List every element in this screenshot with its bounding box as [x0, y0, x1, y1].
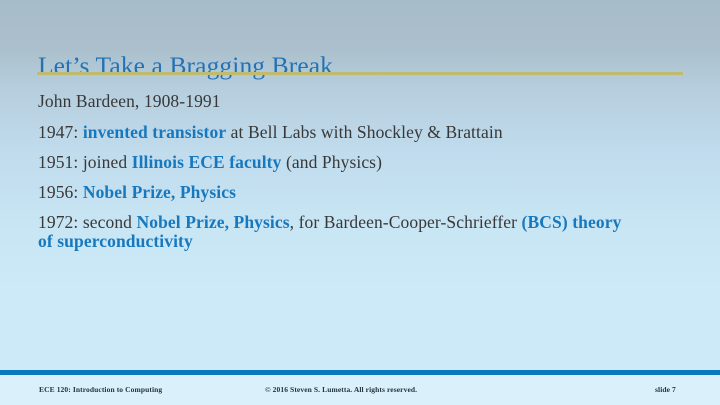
- text-segment: 1947:: [38, 122, 83, 142]
- title-divider: [37, 72, 683, 75]
- highlight-invented-transistor: invented transistor: [83, 122, 226, 142]
- text-segment: 1972: second: [38, 212, 137, 232]
- text-segment: 1956:: [38, 182, 83, 202]
- bullet-bardeen-life: John Bardeen, 1908-1991: [38, 92, 638, 111]
- text-segment: John Bardeen, 1908-1991: [38, 91, 221, 111]
- slide-body: John Bardeen, 1908-1991 1947: invented t…: [38, 92, 638, 262]
- text-segment: at Bell Labs with Shockley & Brattain: [226, 122, 502, 142]
- highlight-nobel-prize-1956: Nobel Prize, Physics: [83, 182, 236, 202]
- footer-course-name: ECE 120: Introduction to Computing: [39, 385, 162, 394]
- bullet-transistor-1947: 1947: invented transistor at Bell Labs w…: [38, 123, 638, 142]
- highlight-nobel-prize-1972: Nobel Prize, Physics: [137, 212, 290, 232]
- text-segment: , for Bardeen-Cooper-Schrieffer: [290, 212, 522, 232]
- slide-canvas: Let’s Take a Bragging Break John Bardeen…: [0, 0, 720, 405]
- footer-copyright: © 2016 Steven S. Lumetta. All rights res…: [265, 385, 417, 394]
- bullet-illinois-1951: 1951: joined Illinois ECE faculty (and P…: [38, 153, 638, 172]
- highlight-illinois-ece-faculty: Illinois ECE faculty: [132, 152, 282, 172]
- footer-slide-number: slide 7: [655, 385, 676, 394]
- bullet-nobel-1956: 1956: Nobel Prize, Physics: [38, 183, 638, 202]
- bullet-nobel-1972: 1972: second Nobel Prize, Physics, for B…: [38, 213, 638, 251]
- text-segment: (and Physics): [281, 152, 382, 172]
- page-title: Let’s Take a Bragging Break: [38, 51, 333, 81]
- text-segment: 1951: joined: [38, 152, 132, 172]
